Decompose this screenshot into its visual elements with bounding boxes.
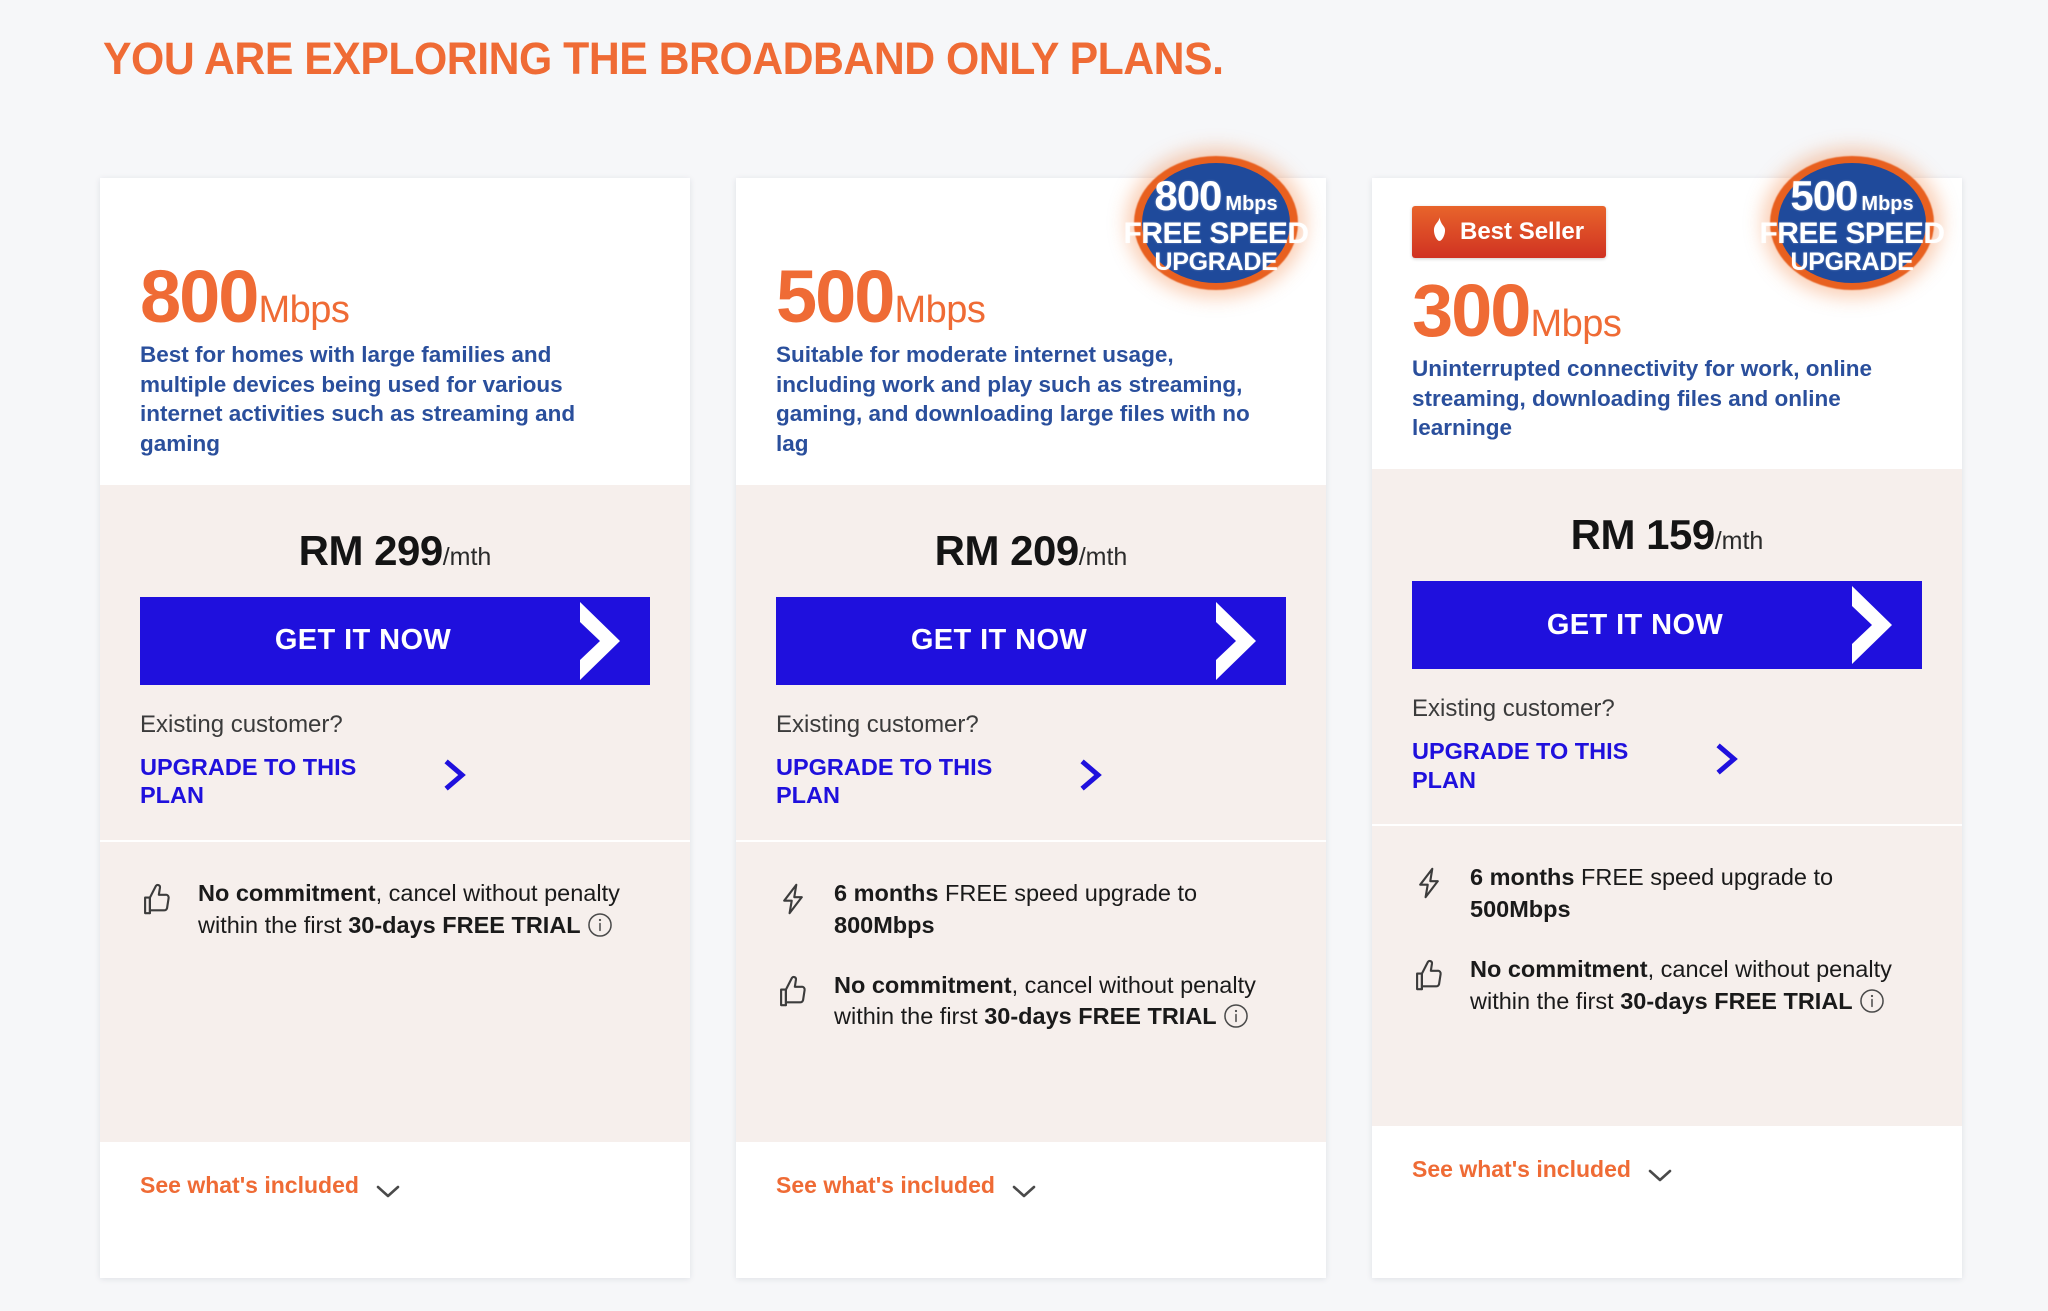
lightning-bolt-icon: [776, 882, 810, 916]
chevron-right-icon: [440, 755, 470, 795]
free-speed-upgrade-badge: 500 Mbps FREE SPEED UPGRADE: [1756, 148, 1948, 298]
existing-customer-label: Existing customer?: [776, 685, 1286, 753]
best-seller-label: Best Seller: [1460, 218, 1584, 246]
badge-line-free-speed: FREE SPEED: [1123, 219, 1308, 249]
plan-price-period: /mth: [1715, 527, 1764, 555]
plan-feature: 6 months FREE speed upgrade to 500Mbps: [1412, 852, 1922, 943]
see-whats-included-toggle[interactable]: See what's included: [736, 1142, 1326, 1227]
plan-feature-text: No commitment, cancel without penalty wi…: [1470, 954, 1922, 1017]
chevron-down-icon: [1647, 1162, 1673, 1178]
plan-card: 800 Mbps Best for homes with large famil…: [100, 178, 690, 1278]
plan-price: RM 299/mth: [140, 513, 650, 597]
thumbs-up-icon: [776, 974, 810, 1008]
plan-feature: No commitment, cancel without penalty wi…: [1412, 944, 1922, 1035]
plan-price-panel: RM 299/mth GET IT NOW Existing customer?…: [100, 485, 690, 1142]
plan-price-amount: RM 299: [299, 527, 443, 574]
upgrade-link-label: UPGRADE TO THIS PLAN: [1412, 737, 1632, 794]
plan-feature-text: 6 months FREE speed upgrade to 500Mbps: [1470, 862, 1922, 925]
plan-card: 800 Mbps FREE SPEED UPGRADE 500 Mbps Sui…: [736, 178, 1326, 1278]
plan-speed-unit: Mbps: [258, 289, 349, 332]
see-whats-included-toggle[interactable]: See what's included: [100, 1142, 690, 1227]
plan-feature: No commitment, cancel without penalty wi…: [776, 960, 1286, 1051]
plan-feature-text: No commitment, cancel without penalty wi…: [198, 878, 650, 941]
badge-ring: [1770, 156, 1934, 290]
plan-speed-value: 500: [776, 264, 893, 331]
thumbs-up-icon: [1412, 958, 1446, 992]
plan-feature-list: 6 months FREE speed upgrade to 800Mbps N…: [736, 842, 1326, 1142]
plan-feature: 6 months FREE speed upgrade to 800Mbps: [776, 868, 1286, 959]
get-it-now-button[interactable]: GET IT NOW: [1412, 581, 1922, 669]
plan-price-panel: RM 159/mth GET IT NOW Existing customer?…: [1372, 469, 1962, 1126]
upgrade-link-label: UPGRADE TO THIS PLAN: [140, 753, 360, 810]
plan-description: Suitable for moderate internet usage, in…: [776, 340, 1276, 459]
badge-text: 500 Mbps FREE SPEED UPGRADE: [1756, 148, 1948, 298]
plan-card: 500 Mbps FREE SPEED UPGRADE Best Seller …: [1372, 178, 1962, 1278]
plan-speed: 500 Mbps: [776, 264, 1286, 332]
existing-customer-label: Existing customer?: [1412, 669, 1922, 737]
plan-description: Best for homes with large families and m…: [140, 340, 640, 459]
see-whats-included-label: See what's included: [776, 1172, 995, 1199]
plan-feature-list: No commitment, cancel without penalty wi…: [100, 842, 690, 1142]
get-it-now-label: GET IT NOW: [1547, 609, 1723, 642]
thumbs-up-icon: [140, 882, 174, 916]
plan-price-amount: RM 209: [935, 527, 1079, 574]
upgrade-to-this-plan-link[interactable]: UPGRADE TO THIS PLAN: [140, 753, 470, 840]
plan-price-period: /mth: [1079, 543, 1128, 571]
badge-disc: [1778, 163, 1926, 283]
flame-icon: [1430, 217, 1449, 248]
plan-speed-unit: Mbps: [894, 289, 985, 332]
get-it-now-button[interactable]: GET IT NOW: [140, 597, 650, 685]
plan-feature-list: 6 months FREE speed upgrade to 500Mbps N…: [1372, 826, 1962, 1126]
badge-speed-unit: Mbps: [1225, 194, 1277, 214]
chevron-right-icon: [1844, 586, 1910, 664]
get-it-now-button[interactable]: GET IT NOW: [776, 597, 1286, 685]
plan-speed-value: 800: [140, 264, 257, 331]
chevron-right-icon: [1076, 755, 1106, 795]
plan-price-panel: RM 209/mth GET IT NOW Existing customer?…: [736, 485, 1326, 1142]
chevron-down-icon: [1011, 1178, 1037, 1194]
chevron-right-icon: [1208, 602, 1274, 680]
plan-price: RM 209/mth: [776, 513, 1286, 597]
chevron-down-icon: [375, 1178, 401, 1194]
get-it-now-label: GET IT NOW: [911, 624, 1087, 657]
get-it-now-label: GET IT NOW: [275, 624, 451, 657]
page-title: YOU ARE EXPLORING THE BROADBAND ONLY PLA…: [103, 33, 1223, 85]
plan-speed: 800 Mbps: [140, 264, 650, 332]
plan-speed-value: 300: [1412, 278, 1529, 345]
upgrade-link-label: UPGRADE TO THIS PLAN: [776, 753, 996, 810]
plan-price-amount: RM 159: [1571, 511, 1715, 558]
upgrade-to-this-plan-link[interactable]: UPGRADE TO THIS PLAN: [1412, 737, 1742, 824]
lightning-bolt-icon: [1412, 866, 1446, 900]
plan-feature-text: 6 months FREE speed upgrade to 800Mbps: [834, 878, 1286, 941]
badge-speed-number: 500: [1790, 175, 1857, 217]
chevron-right-icon: [1712, 739, 1742, 779]
plan-speed-unit: Mbps: [1530, 303, 1621, 346]
plan-price-period: /mth: [443, 543, 492, 571]
info-icon[interactable]: [1859, 988, 1885, 1014]
upgrade-to-this-plan-link[interactable]: UPGRADE TO THIS PLAN: [776, 753, 1106, 840]
info-icon[interactable]: [587, 912, 613, 938]
info-icon[interactable]: [1223, 1003, 1249, 1029]
see-whats-included-toggle[interactable]: See what's included: [1372, 1126, 1962, 1211]
see-whats-included-label: See what's included: [140, 1172, 359, 1199]
plan-feature-text: No commitment, cancel without penalty wi…: [834, 970, 1286, 1033]
plan-speed: 300 Mbps: [1412, 278, 1922, 346]
plan-price: RM 159/mth: [1412, 497, 1922, 581]
plan-card-list: 800 Mbps Best for homes with large famil…: [0, 178, 2048, 1278]
plan-feature: No commitment, cancel without penalty wi…: [140, 868, 650, 959]
existing-customer-label: Existing customer?: [140, 685, 650, 753]
badge-line-free-speed: FREE SPEED: [1759, 219, 1944, 249]
badge-line-upgrade: UPGRADE: [1791, 250, 1914, 275]
badge-speed-unit: Mbps: [1861, 194, 1913, 214]
best-seller-badge: Best Seller: [1412, 206, 1606, 258]
see-whats-included-label: See what's included: [1412, 1156, 1631, 1183]
badge-speed-number: 800: [1154, 175, 1221, 217]
chevron-right-icon: [572, 602, 638, 680]
plan-description: Uninterrupted connectivity for work, onl…: [1412, 354, 1912, 443]
